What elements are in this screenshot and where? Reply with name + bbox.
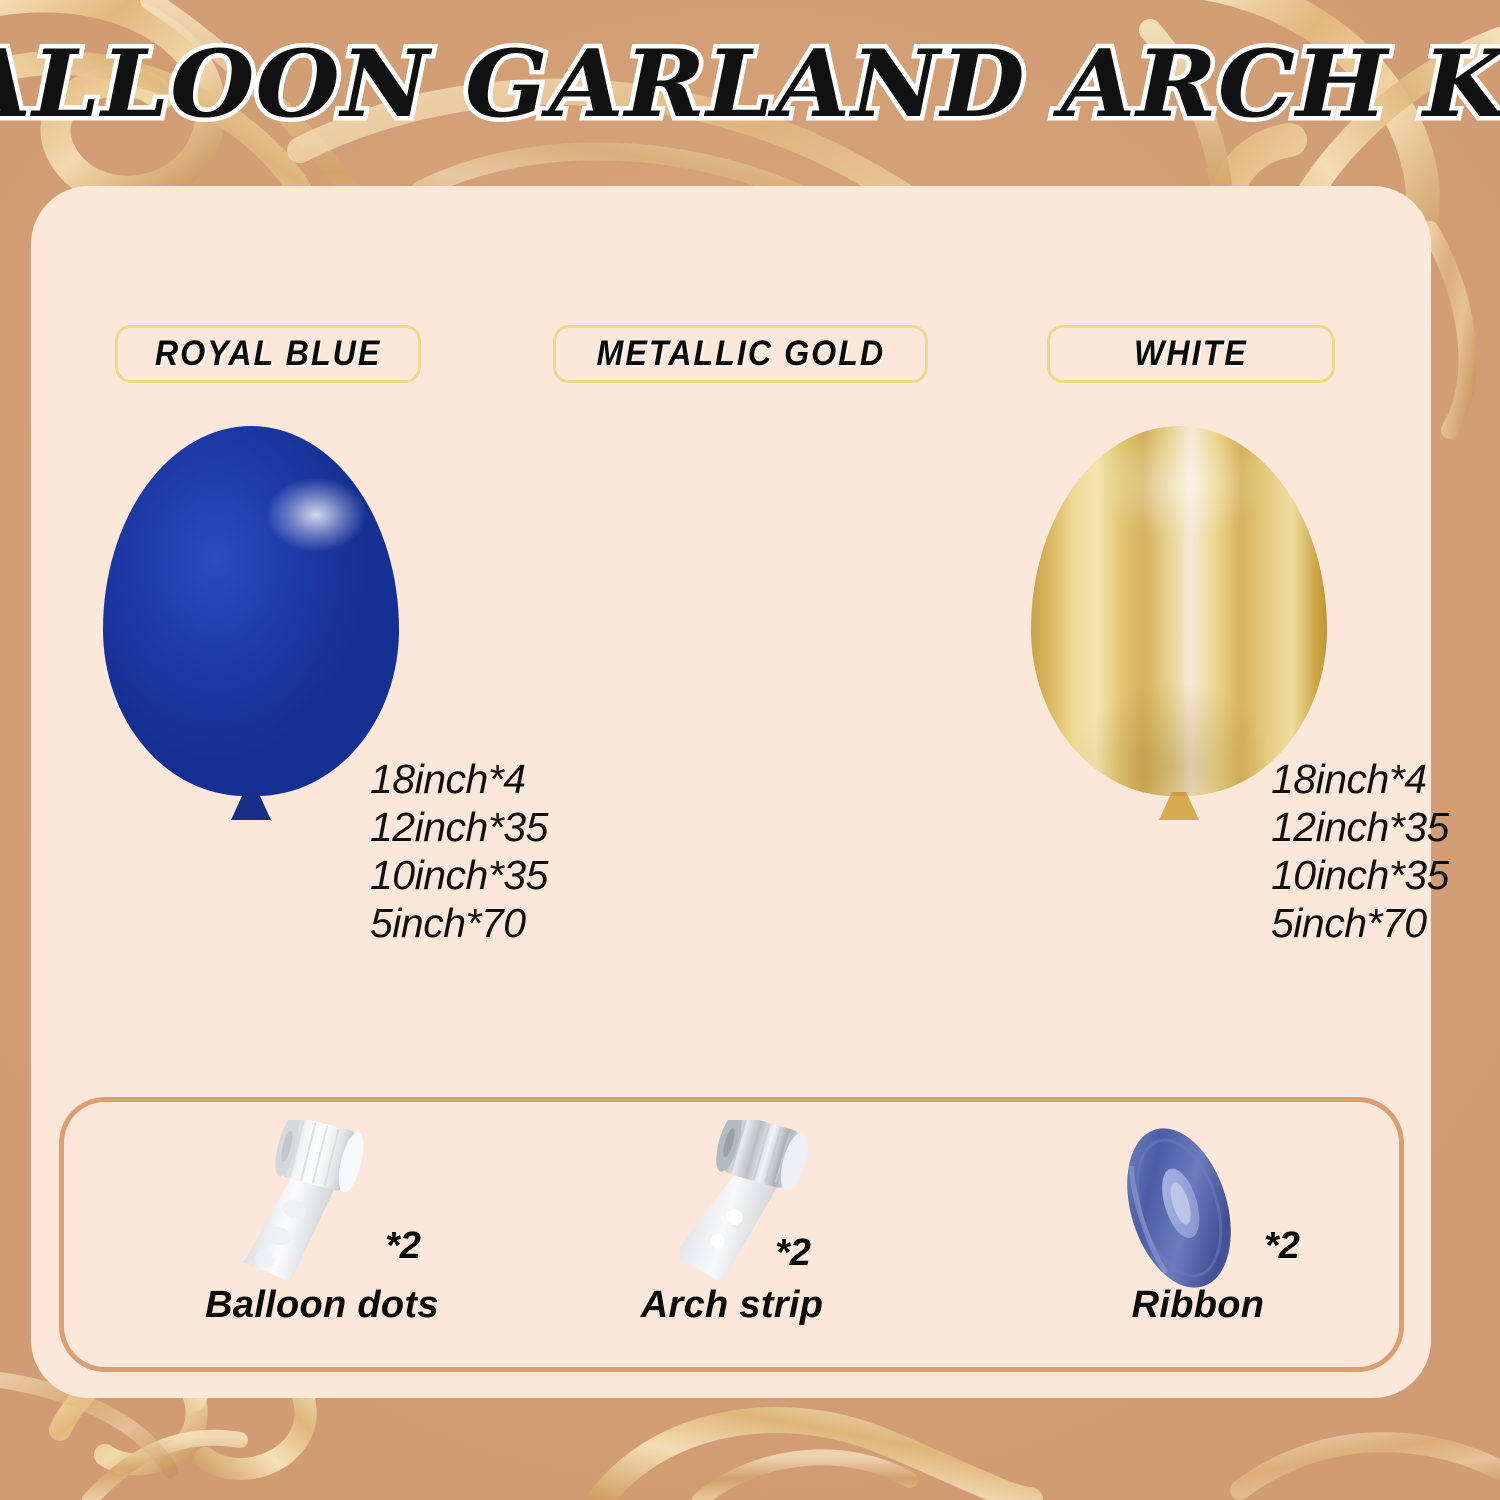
balloon-royal-blue <box>103 426 399 796</box>
color-column-royal-blue: ROYAL BLUE 18inch*4 12inch*35 10inch*35 … <box>31 186 497 1086</box>
color-chip-label: WHITE <box>1134 334 1248 374</box>
accessory-count: *2 <box>1264 1225 1300 1268</box>
color-chip-metallic-gold: METALLIC GOLD <box>553 325 928 383</box>
balloon-icon <box>103 426 399 796</box>
glue-dots-roll-icon <box>242 1120 412 1295</box>
color-chip-white: WHITE <box>1047 325 1335 383</box>
color-chip-label: METALLIC GOLD <box>596 334 885 374</box>
accessories-box: *2 Balloon dots <box>59 1097 1404 1372</box>
accessory-balloon-dots: *2 Balloon dots <box>92 1102 540 1367</box>
balloon-knot-icon <box>231 792 271 820</box>
accessory-label: Balloon dots <box>98 1284 546 1327</box>
poster-canvas: BALLOON GARLAND ARCH KIT ROYAL BLUE 18in… <box>0 0 1500 1500</box>
accessory-ribbon: *2 Ribbon <box>944 1102 1392 1367</box>
accessory-label: Arch strip <box>508 1284 956 1327</box>
page-title-text: BALLOON GARLAND ARCH KIT <box>0 29 1500 138</box>
accessory-count: *2 <box>385 1225 421 1268</box>
ribbon-spool-icon <box>1094 1120 1264 1295</box>
accessory-count: *2 <box>775 1232 811 1275</box>
color-chip-royal-blue: ROYAL BLUE <box>115 325 421 383</box>
page-title: BALLOON GARLAND ARCH KIT <box>0 26 1500 141</box>
color-columns: ROYAL BLUE 18inch*4 12inch*35 10inch*35 … <box>31 186 1431 1086</box>
accessory-arch-strip: *2 Arch strip <box>530 1102 978 1367</box>
color-column-metallic-gold: METALLIC GOLD 18inch*4 12inch*35 10inch*… <box>497 186 963 1086</box>
accessory-label: Ribbon <box>974 1284 1422 1327</box>
arch-strip-roll-icon <box>680 1120 850 1295</box>
color-column-white: WHITE 18inch*4 12inch*30 10inch*30 5inch… <box>963 186 1429 1086</box>
color-chip-label: ROYAL BLUE <box>155 334 382 374</box>
